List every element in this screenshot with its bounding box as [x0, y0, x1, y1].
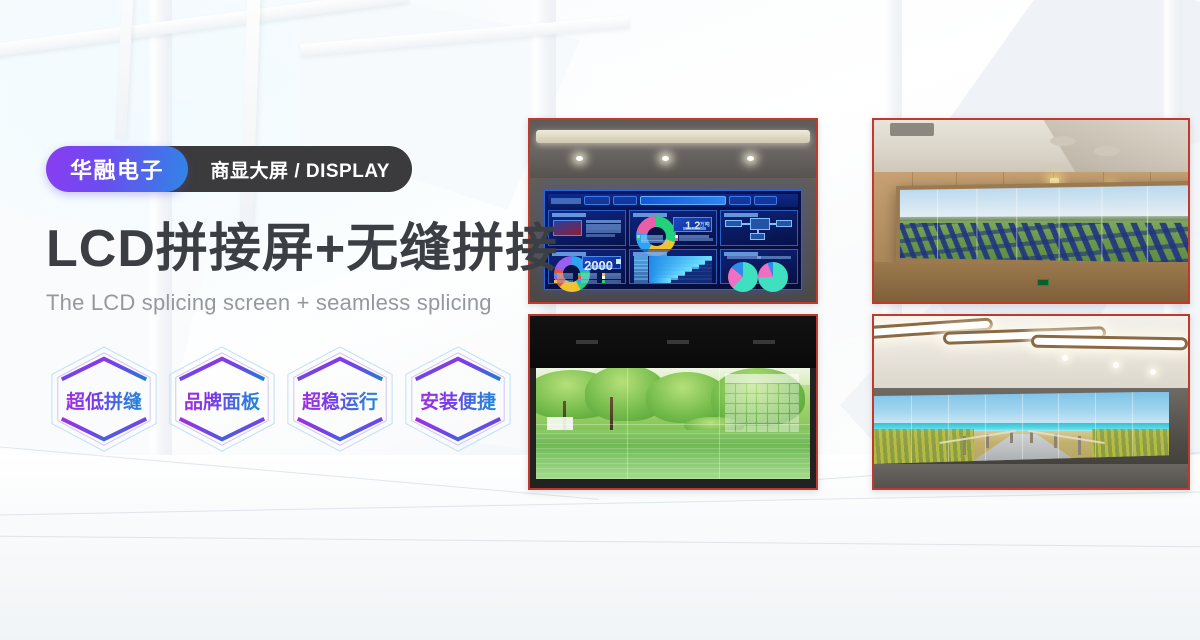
feature-badge-label: 品牌面板	[184, 387, 260, 414]
wall-base-panel	[874, 262, 1188, 302]
feature-badge-label: 超低拼缝	[66, 387, 142, 414]
flow-node	[750, 218, 770, 229]
bar-item	[649, 278, 671, 283]
dashboard-title-tab	[640, 196, 726, 205]
calendar-title	[725, 374, 799, 383]
dashboard-card-intro	[548, 210, 626, 246]
scene-indoor-video-wall	[530, 316, 816, 488]
feature-badge-1: 超低拼缝	[46, 344, 162, 456]
brand-pill-label: 华融电子	[70, 153, 164, 185]
railing-post	[1030, 432, 1033, 443]
ceiling-spotlight	[1113, 362, 1119, 368]
ceiling-spotlight	[576, 156, 583, 161]
card-title-bar	[552, 213, 586, 217]
ceiling	[874, 316, 1188, 388]
cove-light	[1031, 335, 1188, 351]
legend-marker	[637, 240, 640, 243]
ceiling-dome-light	[1050, 136, 1076, 146]
scene-wood-conference-room	[874, 120, 1188, 302]
scene-control-room: 1.2 万吨	[530, 120, 816, 302]
cove-light	[536, 130, 810, 143]
photo-solar-farm-video-wall[interactable]	[872, 118, 1190, 304]
lcd-video-wall-screen	[536, 368, 811, 480]
dashboard-timestamp	[551, 198, 581, 204]
feature-badge-2: 品牌面板	[164, 344, 280, 456]
dashboard-nav-tab	[754, 196, 777, 205]
flow-node	[776, 220, 793, 227]
lcd-video-wall-screen: 1.2 万吨	[544, 190, 802, 290]
brand-pill-row: 商显大屏 / DISPLAY 华融电子	[46, 146, 516, 192]
ceiling-spotlight	[662, 156, 669, 161]
page-subtitle: The LCD splicing screen + seamless splic…	[46, 290, 516, 316]
dashboard-card-kpi: 1.2 万吨	[629, 210, 717, 246]
dune-grass	[874, 429, 974, 464]
banner-content: 商显大屏 / DISPLAY 华融电子 LCD拼接屏+无缝拼接 The LCD …	[46, 146, 516, 456]
brand-pill: 华融电子	[46, 146, 188, 192]
tree-trunk	[610, 397, 613, 433]
pie-chart	[728, 262, 758, 292]
dashboard-header	[548, 194, 798, 207]
dashboard-nav-tab	[584, 196, 610, 205]
dashboard-card-pies	[720, 249, 798, 285]
exit-sign-icon	[1037, 279, 1049, 286]
pond-water	[536, 430, 811, 479]
floor	[874, 464, 1188, 488]
category-pill-label: 商显大屏 / DISPLAY	[211, 156, 390, 183]
scene-lobby	[874, 316, 1188, 488]
feature-badge-label: 安装便捷	[420, 387, 496, 414]
feature-badge-3: 超稳运行	[282, 344, 398, 456]
ceiling-dome-light	[1094, 146, 1120, 156]
feature-badge-4: 安装便捷	[400, 344, 516, 456]
page-title: LCD拼接屏+无缝拼接	[46, 222, 516, 276]
ceiling-spotlight	[1062, 355, 1068, 361]
lcd-video-wall-screen	[874, 392, 1169, 464]
dashboard-nav-tab	[729, 196, 751, 205]
lcd-video-wall-screen	[896, 180, 1190, 267]
air-vent	[890, 123, 934, 136]
flow-node	[725, 220, 742, 227]
photo-dashboard-video-wall[interactable]: 1.2 万吨	[528, 118, 818, 304]
photo-willow-pond-video-wall[interactable]	[528, 314, 818, 490]
dashboard-card-ranking	[629, 249, 717, 285]
card-title-bar	[633, 252, 667, 256]
feature-badge-label: 超稳运行	[302, 387, 378, 414]
dashboard-card-flow	[720, 210, 798, 246]
legend-marker	[675, 238, 678, 241]
photo-beach-boardwalk-video-wall[interactable]	[872, 314, 1190, 490]
dashboard-nav-tab	[613, 196, 637, 205]
dashboard-card-distribution: 2000	[548, 249, 626, 285]
ceiling-spotlight	[1150, 369, 1156, 375]
floor-line	[0, 491, 1200, 515]
feature-list: 超低拼缝 品牌面板	[46, 344, 516, 456]
flow-node	[750, 233, 765, 240]
dashboard-panels: 1.2 万吨	[548, 210, 798, 284]
pie-chart	[758, 262, 788, 292]
floor-line	[0, 536, 1200, 547]
card-title-bar	[724, 213, 758, 217]
railing-post	[1010, 432, 1013, 443]
product-photo-grid: 1.2 万吨	[528, 118, 1190, 490]
screen-bezel-top	[530, 316, 816, 368]
ceiling	[530, 120, 816, 178]
